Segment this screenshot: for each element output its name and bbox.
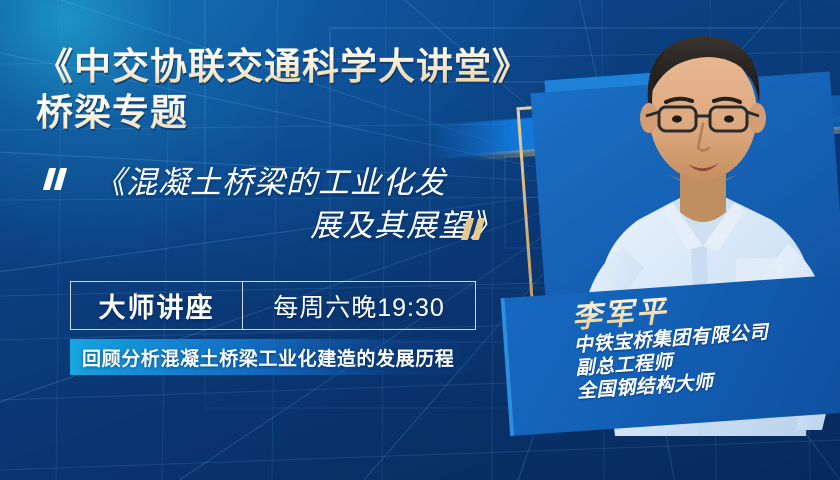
speaker-nameplate-text: 李军平 中铁宝桥集团有限公司 副总工程师 全国钢结构大师: [529, 277, 840, 440]
lecture-topic-text: 《混凝土桥梁的工业化发 展及其展望》: [86, 162, 506, 248]
close-quote-icon: [464, 218, 486, 240]
topic-line-1: 《混凝土桥梁的工业化发: [86, 162, 506, 205]
title-line-2: 桥梁专题: [36, 90, 556, 136]
open-quote-icon: [46, 168, 68, 190]
lecture-tagline-bar: 回顾分析混凝土桥梁工业化建造的发展历程: [70, 339, 476, 375]
lecture-topic-quote: 《混凝土桥梁的工业化发 展及其展望》: [40, 162, 540, 272]
poster-title: 《中交协联交通科学大讲堂》 桥梁专题: [36, 44, 556, 137]
lecture-info-box: 大师讲座 每周六晚19:30: [70, 281, 476, 330]
title-line-1: 《中交协联交通科学大讲堂》: [36, 44, 556, 90]
lecture-poster: 李军平 中铁宝桥集团有限公司 副总工程师 全国钢结构大师 《中交协联交通科学大讲…: [0, 0, 840, 480]
lecture-schedule: 每周六晚19:30: [273, 288, 445, 324]
lecture-tagline: 回顾分析混凝土桥梁工业化建造的发展历程: [70, 344, 454, 371]
lecture-schedule-cell: 每周六晚19:30: [243, 282, 475, 329]
lecture-series-label-cell: 大师讲座: [71, 282, 243, 329]
topic-line-2: 展及其展望》: [86, 205, 506, 248]
lecture-series-label: 大师讲座: [99, 286, 215, 325]
